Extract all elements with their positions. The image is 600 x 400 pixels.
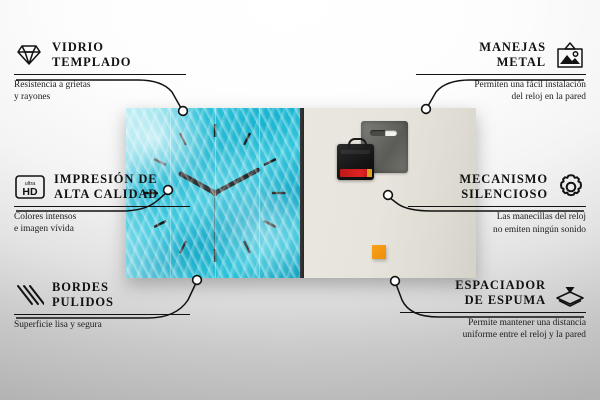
gear-icon — [556, 172, 586, 202]
feature-mecanismo-silencioso: MECANISMO SILENCIOSO Las manecillas del … — [408, 172, 586, 236]
feature-title: BORDES PULIDOS — [52, 280, 114, 310]
feature-title: ESPACIADOR DE ESPUMA — [455, 278, 546, 308]
mechanism-detail — [341, 150, 370, 154]
infographic-canvas: VIDRIO TEMPLADO Resistencia a grietas y … — [0, 0, 600, 400]
feature-title: IMPRESIÓN DE ALTA CALIDAD — [54, 172, 158, 202]
feature-title: VIDRIO TEMPLADO — [52, 40, 131, 70]
battery — [340, 169, 371, 177]
ultra-hd-icon: ultra HD — [14, 174, 46, 200]
divider — [400, 312, 586, 313]
polished-edges-icon — [14, 283, 44, 307]
feature-description: Permiten una fácil instalación del reloj… — [416, 79, 586, 104]
divider — [416, 74, 586, 75]
foam-spacer-icon — [554, 279, 586, 307]
divider — [408, 206, 586, 207]
feature-title: MECANISMO SILENCIOSO — [459, 172, 548, 202]
divider — [14, 206, 190, 207]
feature-description: Colores intensos e imagen vívida — [14, 211, 190, 236]
feature-header: MECANISMO SILENCIOSO — [408, 172, 586, 202]
feature-espaciador-de-espuma: ESPACIADOR DE ESPUMA Permite mantener un… — [400, 278, 586, 342]
feature-manejas-metal: MANEJAS METAL Permiten una fácil instala… — [416, 40, 586, 104]
print-seam — [215, 108, 216, 278]
print-seam — [259, 108, 260, 278]
feature-description: Superficie lisa y segura — [14, 319, 190, 331]
feature-title: MANEJAS METAL — [479, 40, 546, 70]
hanging-frame-icon — [554, 41, 586, 69]
feature-description: Resistencia a grietas y rayones — [14, 79, 186, 104]
ultra-hd-icon-main-text: HD — [22, 186, 38, 198]
mechanism-loop — [348, 138, 367, 148]
clock-mechanism — [337, 144, 374, 180]
feature-header: BORDES PULIDOS — [14, 280, 190, 310]
feature-bordes-pulidos: BORDES PULIDOS Superficie lisa y segura — [14, 280, 190, 331]
foam-spacer — [372, 245, 386, 259]
feature-description: Permite mantener una distancia uniforme … — [400, 317, 586, 342]
feature-header: ultra HD IMPRESIÓN DE ALTA CALIDAD — [14, 172, 190, 202]
divider — [14, 74, 186, 75]
feature-header: VIDRIO TEMPLADO — [14, 40, 186, 70]
divider — [14, 314, 190, 315]
hanger-slot — [370, 130, 397, 136]
diamond-icon — [14, 43, 44, 67]
feature-header: ESPACIADOR DE ESPUMA — [400, 278, 586, 308]
feature-vidrio-templado: VIDRIO TEMPLADO Resistencia a grietas y … — [14, 40, 186, 104]
feature-header: MANEJAS METAL — [416, 40, 586, 70]
feature-description: Las manecillas del reloj no emiten ningú… — [408, 211, 586, 236]
feature-impresion-alta-calidad: ultra HD IMPRESIÓN DE ALTA CALIDAD Color… — [14, 172, 190, 236]
